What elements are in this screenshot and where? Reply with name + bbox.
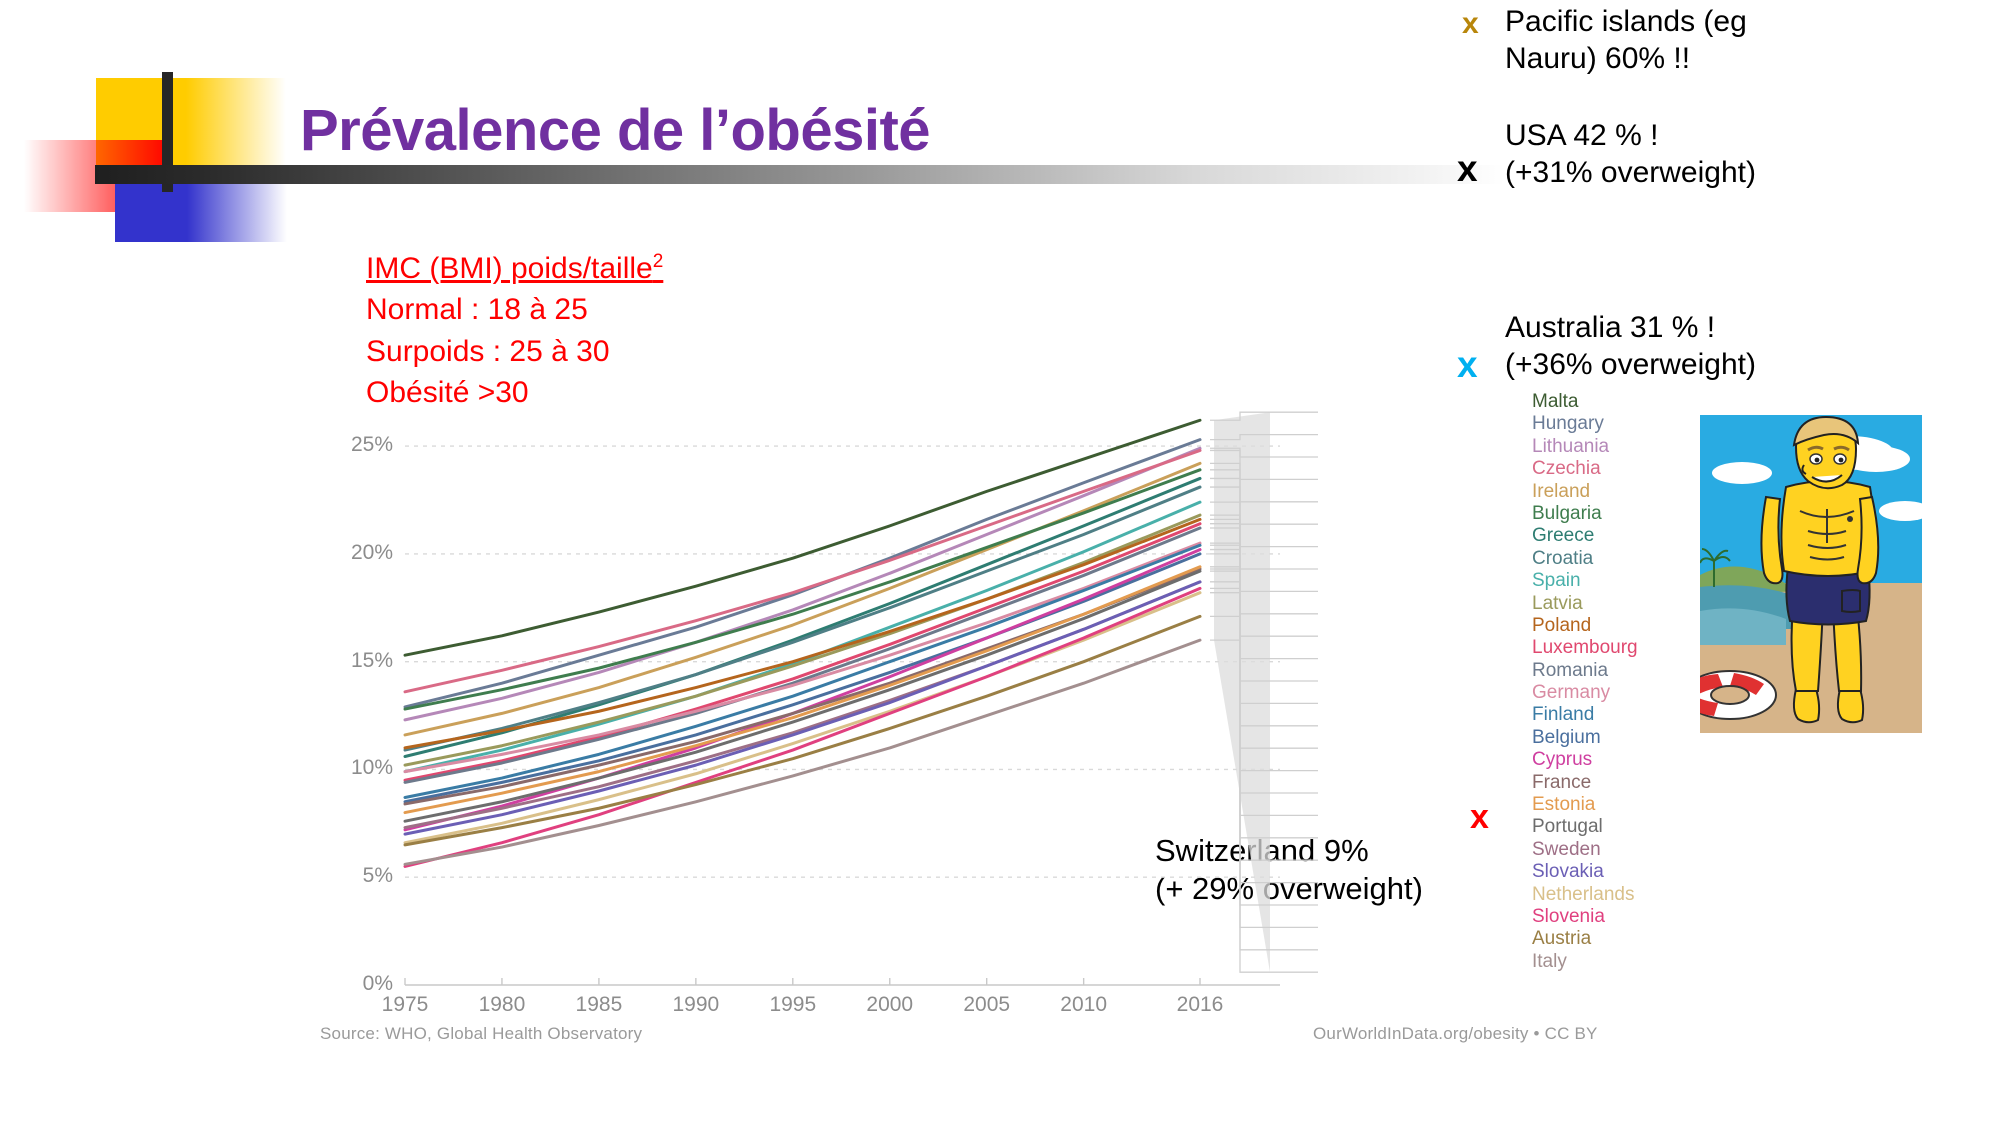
legend-item-spain[interactable]: Spain <box>1532 570 1712 592</box>
legend-item-poland[interactable]: Poland <box>1532 615 1712 637</box>
slide-canvas: Prévalence de l’obésité x Pacific island… <box>0 0 2000 1125</box>
legend-item-estonia[interactable]: Estonia <box>1532 794 1712 816</box>
y-tick-25%: 25% <box>323 433 393 457</box>
legend-item-bulgaria[interactable]: Bulgaria <box>1532 503 1712 525</box>
legend-item-cyprus[interactable]: Cyprus <box>1532 749 1712 771</box>
bmi-heading: IMC (BMI) poids/taille2 <box>366 248 663 289</box>
annotation-line-1: Pacific islands (eg <box>1505 4 1975 41</box>
bmi-line-overweight: Surpoids : 25 à 30 <box>366 331 663 372</box>
annotation-line-2: (+36% overweight) <box>1505 347 1975 384</box>
legend-item-belgium[interactable]: Belgium <box>1532 727 1712 749</box>
bmi-line-normal: Normal : 18 à 25 <box>366 289 663 330</box>
legend-item-czechia[interactable]: Czechia <box>1532 458 1712 480</box>
x-tick-1995: 1995 <box>753 993 833 1017</box>
legend-item-luxembourg[interactable]: Luxembourg <box>1532 637 1712 659</box>
marker-x-icon: x <box>1462 6 1479 43</box>
chart-credit-note: OurWorldInData.org/obesity • CC BY <box>1313 1024 1598 1044</box>
page-title: Prévalence de l’obésité <box>300 101 1300 162</box>
x-tick-2010: 2010 <box>1044 993 1124 1017</box>
legend-item-italy[interactable]: Italy <box>1532 951 1712 973</box>
y-tick-5%: 5% <box>323 864 393 888</box>
x-tick-1990: 1990 <box>656 993 736 1017</box>
bmi-heading-text: IMC (BMI) poids/taille <box>366 252 653 285</box>
x-tick-2016: 2016 <box>1160 993 1240 1017</box>
y-tick-15%: 15% <box>323 649 393 673</box>
deco-horizontal-rule <box>95 165 1505 184</box>
legend-item-latvia[interactable]: Latvia <box>1532 593 1712 615</box>
legend-item-netherlands[interactable]: Netherlands <box>1532 884 1712 906</box>
annotation-line-1: USA 42 % ! <box>1505 118 1975 155</box>
bmi-definition-block: IMC (BMI) poids/taille2 Normal : 18 à 25… <box>366 248 663 414</box>
bmi-heading-exponent: 2 <box>653 251 664 272</box>
beach-cartoon-image <box>1700 415 1922 733</box>
legend-item-slovakia[interactable]: Slovakia <box>1532 861 1712 883</box>
legend-item-lithuania[interactable]: Lithuania <box>1532 436 1712 458</box>
legend-item-austria[interactable]: Austria <box>1532 928 1712 950</box>
legend-item-romania[interactable]: Romania <box>1532 660 1712 682</box>
legend-item-croatia[interactable]: Croatia <box>1532 548 1712 570</box>
deco-yellow-gradient <box>186 78 286 170</box>
annotation-australia: x Australia 31 % ! (+36% overweight) <box>1505 310 1975 383</box>
x-tick-1980: 1980 <box>462 993 542 1017</box>
marker-x-icon: x <box>1457 342 1478 387</box>
x-tick-2000: 2000 <box>850 993 930 1017</box>
annotation-line-1: Australia 31 % ! <box>1505 310 1975 347</box>
legend-item-portugal[interactable]: Portugal <box>1532 816 1712 838</box>
x-tick-1975: 1975 <box>365 993 445 1017</box>
y-tick-20%: 20% <box>323 541 393 565</box>
legend-item-slovenia[interactable]: Slovenia <box>1532 906 1712 928</box>
y-tick-10%: 10% <box>323 756 393 780</box>
x-tick-2005: 2005 <box>947 993 1027 1017</box>
obesity-prevalence-chart: 0%5%10%15%20%25% 19751980198519901995200… <box>310 395 1650 1075</box>
chart-plot-area <box>310 395 1650 1035</box>
beach-cartoon-illustration <box>1700 415 1922 733</box>
annotation-usa: x USA 42 % ! (+31% overweight) <box>1505 118 1975 191</box>
legend-item-malta[interactable]: Malta <box>1532 391 1712 413</box>
legend-item-ireland[interactable]: Ireland <box>1532 481 1712 503</box>
lifebuoy-icon <box>1700 671 1776 719</box>
chart-legend: MaltaHungaryLithuaniaCzechiaIrelandBulga… <box>1532 391 1712 973</box>
legend-item-france[interactable]: France <box>1532 772 1712 794</box>
legend-item-hungary[interactable]: Hungary <box>1532 413 1712 435</box>
annotation-line-2: Nauru) 60% !! <box>1505 41 1975 78</box>
legend-item-sweden[interactable]: Sweden <box>1532 839 1712 861</box>
annotation-line-2: (+31% overweight) <box>1505 155 1975 192</box>
legend-item-greece[interactable]: Greece <box>1532 525 1712 547</box>
chart-source-note: Source: WHO, Global Health Observatory <box>320 1024 642 1044</box>
legend-item-germany[interactable]: Germany <box>1532 682 1712 704</box>
annotation-pacific-islands: x Pacific islands (eg Nauru) 60% !! <box>1505 4 1975 77</box>
x-tick-1985: 1985 <box>559 993 639 1017</box>
legend-item-finland[interactable]: Finland <box>1532 704 1712 726</box>
marker-x-icon: x <box>1457 146 1478 191</box>
